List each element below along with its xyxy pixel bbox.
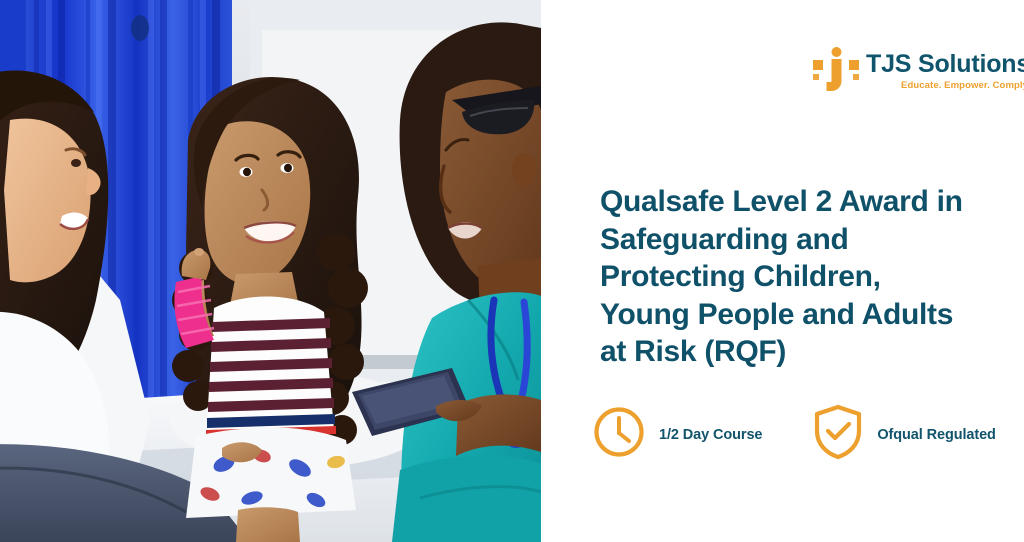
course-badges: 1/2 Day Course Ofqual Regulated bbox=[593, 404, 996, 465]
photo-illustration bbox=[0, 0, 541, 542]
tjs-j-monogram-icon bbox=[813, 47, 859, 95]
shield-check-icon bbox=[813, 404, 863, 465]
course-title-line-4: Young People and Adults bbox=[600, 296, 1000, 334]
badge-duration-label: 1/2 Day Course bbox=[659, 427, 762, 443]
badge-regulator: Ofqual Regulated bbox=[813, 404, 995, 465]
course-title-line-3: Protecting Children, bbox=[600, 258, 1000, 296]
course-banner: TJS Solutions Educate. Empower. Comply. … bbox=[0, 0, 1024, 542]
tjs-solutions-logo[interactable]: TJS Solutions Educate. Empower. Comply. bbox=[813, 47, 1024, 95]
badge-duration: 1/2 Day Course bbox=[593, 406, 762, 463]
photo-girl bbox=[172, 77, 368, 542]
course-title: Qualsafe Level 2 Award in Safeguarding a… bbox=[600, 183, 1000, 371]
logo-name: TJS Solutions bbox=[866, 51, 1024, 77]
clock-icon bbox=[593, 406, 645, 463]
course-info-panel: TJS Solutions Educate. Empower. Comply. … bbox=[541, 0, 1024, 542]
course-title-line-5: at Risk (RQF) bbox=[600, 333, 1000, 371]
course-title-line-1: Qualsafe Level 2 Award in bbox=[600, 183, 1000, 221]
course-title-line-2: Safeguarding and bbox=[600, 221, 1000, 259]
course-photo bbox=[0, 0, 541, 542]
badge-regulator-label: Ofqual Regulated bbox=[877, 427, 995, 443]
logo-wordmark: TJS Solutions Educate. Empower. Comply. bbox=[866, 47, 1024, 91]
logo-tagline: Educate. Empower. Comply. bbox=[866, 80, 1024, 91]
